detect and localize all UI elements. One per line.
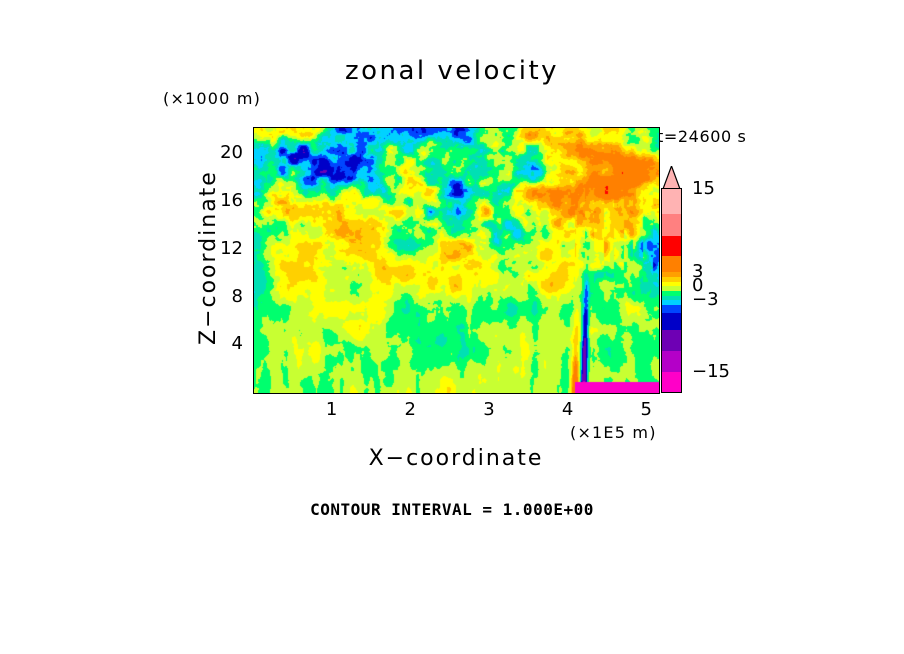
- colorbar: [661, 188, 682, 393]
- x-axis-units-label: (×1E5 m): [570, 423, 657, 442]
- page-title: zonal velocity: [0, 56, 904, 86]
- colorbar-band: [662, 189, 681, 214]
- colorbar-arrow-icon: [660, 166, 683, 189]
- colorbar-band: [662, 313, 681, 331]
- y-axis-units-label: (×1000 m): [163, 89, 261, 108]
- x-tick-label: 4: [548, 399, 588, 420]
- x-axis-label: X−coordinate: [253, 446, 659, 471]
- y-axis-label: Z−coordinate: [196, 170, 221, 345]
- contour-field: [254, 128, 659, 393]
- colorbar-band: [662, 351, 681, 373]
- colorbar-tick-label: 15: [692, 178, 715, 199]
- colorbar-band: [662, 214, 681, 237]
- colorbar-band: [662, 256, 681, 273]
- x-tick-label: 1: [312, 399, 352, 420]
- colorbar-band: [662, 372, 681, 393]
- x-tick-label: 2: [390, 399, 430, 420]
- contour-plot-area: [253, 127, 660, 394]
- colorbar-band: [662, 236, 681, 256]
- y-tick-label: 20: [203, 142, 243, 163]
- figure-canvas: zonal velocity (×1000 m) t=24600 s 12345…: [0, 0, 904, 654]
- colorbar-band: [662, 330, 681, 351]
- timestamp-label: t=24600 s: [657, 127, 746, 146]
- colorbar-tick-label: −15: [692, 361, 730, 382]
- x-tick-label: 3: [469, 399, 509, 420]
- x-tick-label: 5: [626, 399, 666, 420]
- colorbar-tick-label: −3: [692, 289, 719, 310]
- contour-interval-label: CONTOUR INTERVAL = 1.000E+00: [0, 500, 904, 519]
